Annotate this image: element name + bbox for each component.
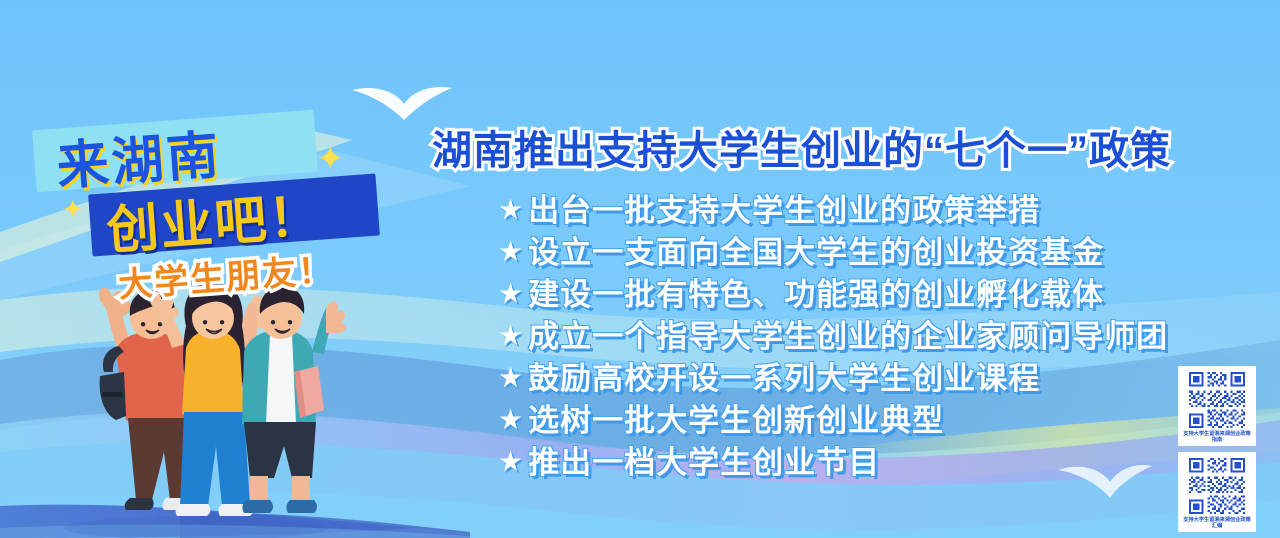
qr-code-icon[interactable] (1187, 456, 1247, 516)
star-icon: ★ (498, 196, 524, 224)
qr-card[interactable]: 支持大学生留湘来湘创业政策汇编 (1178, 452, 1256, 532)
star-icon: ★ (498, 364, 524, 392)
star-icon: ★ (498, 280, 524, 308)
promo-banner: 来湖南 创业吧！ 大学生朋友！ ✦ ✦ 湖南推出支持大学生创业的“七个一”政策 … (0, 0, 1280, 538)
star-icon: ★ (498, 238, 524, 266)
qr-card[interactable]: 支持大学生留湘来湘创业政策指南 (1178, 366, 1256, 446)
list-item: ★ 出台一批支持大学生创业的政策举措 (498, 192, 1168, 228)
sparkle-icon: ✦ (62, 196, 84, 222)
list-item-label: 设立一支面向全国大学生的创业投资基金 (528, 237, 1104, 268)
qr-code-icon[interactable] (1187, 370, 1247, 430)
star-icon: ★ (498, 448, 524, 476)
qr-caption: 支持大学生留湘来湘创业政策指南 (1181, 431, 1253, 444)
list-item-label: 成立一个指导大学生创业的企业家顾问导师团 (528, 321, 1168, 352)
list-item-label: 推出一档大学生创业节目 (528, 447, 880, 478)
list-item-label: 建设一批有特色、功能强的创业孵化载体 (528, 279, 1104, 310)
star-icon: ★ (498, 322, 524, 350)
list-item: ★ 鼓励高校开设一系列大学生创业课程 (498, 360, 1168, 396)
list-item: ★ 推出一档大学生创业节目 (498, 444, 1168, 480)
list-item-label: 出台一批支持大学生创业的政策举措 (528, 195, 1040, 226)
campaign-logo: 来湖南 创业吧！ 大学生朋友！ ✦ ✦ (28, 104, 378, 304)
policy-list: ★ 出台一批支持大学生创业的政策举措 ★ 设立一支面向全国大学生的创业投资基金 … (498, 192, 1168, 486)
sparkle-icon: ✦ (316, 142, 345, 176)
list-item-label: 鼓励高校开设一系列大学生创业课程 (528, 363, 1040, 394)
qr-caption: 支持大学生留湘来湘创业政策汇编 (1181, 517, 1253, 530)
list-item-label: 选树一批大学生创新创业典型 (528, 405, 944, 436)
list-item: ★ 设立一支面向全国大学生的创业投资基金 (498, 234, 1168, 270)
star-icon: ★ (498, 406, 524, 434)
list-item: ★ 建设一批有特色、功能强的创业孵化载体 (498, 276, 1168, 312)
qr-code-stack: 支持大学生留湘来湘创业政策指南 (1178, 366, 1256, 538)
list-item: ★ 选树一批大学生创新创业典型 (498, 402, 1168, 438)
logo-line-2: 创业吧！ (104, 173, 408, 257)
page-title: 湖南推出支持大学生创业的“七个一”政策 (432, 118, 1171, 176)
list-item: ★ 成立一个指导大学生创业的企业家顾问导师团 (498, 318, 1168, 354)
